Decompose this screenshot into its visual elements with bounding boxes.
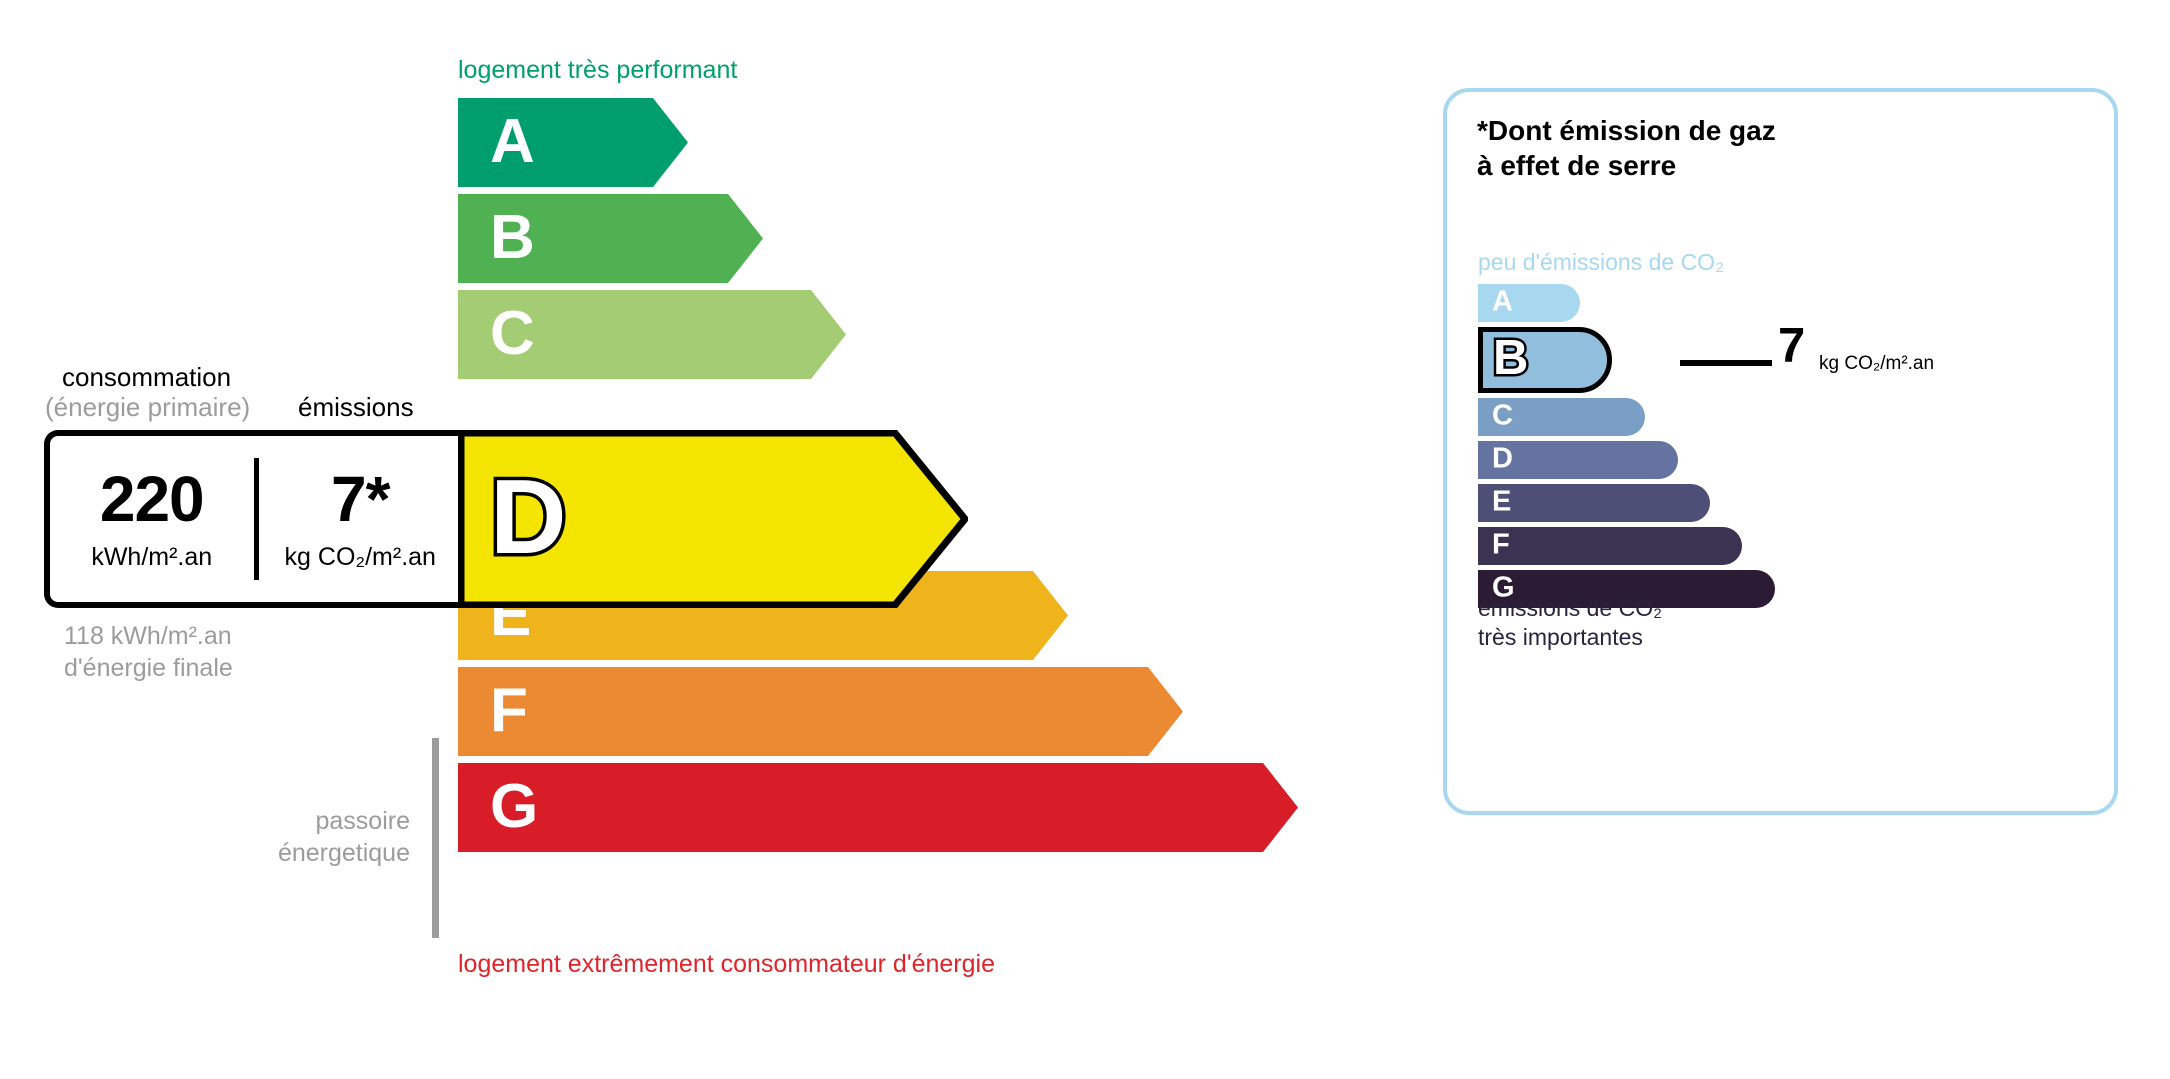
passoire-line1: passoire [140,805,410,837]
energy-bar-f[interactable]: F [458,667,1183,756]
arrow-shape-g [458,763,1298,852]
label-emissions: émissions [298,392,414,423]
co2-bar-row-a[interactable]: A [1478,284,1878,322]
emission-value: 7* [331,467,390,531]
co2-bottom-caption: émissions de CO₂ très importantes [1478,594,1662,653]
label-consommation: consommation [62,362,231,393]
co2-value: 7 [1778,322,1805,371]
energy-grade-letter-b: B [490,206,535,268]
energy-grade-letter-g: G [490,775,538,837]
consumption-value: 220 [100,467,204,531]
energy-bar-row-c[interactable]: C [458,290,1318,379]
co2-title-line2: à effet de serre [1477,149,1776,184]
final-energy-note: 118 kWh/m².an d'énergie finale [64,620,233,684]
co2-bar-row-e[interactable]: E [1478,484,1878,522]
co2-leader-line [1680,360,1772,366]
final-energy-line1: 118 kWh/m².an [64,620,233,652]
energy-bar-row-g[interactable]: G [458,763,1318,852]
emission-unit: kg CO₂/m².an [285,543,436,572]
co2-grade-letter-c: C [1492,402,1513,431]
passoire-marker-line [432,738,439,938]
co2-bar-c[interactable]: C [1478,398,1645,436]
co2-bar-row-f[interactable]: F [1478,527,1878,565]
co2-bottom-line2: très importantes [1478,623,1662,652]
emission-cell: 7* kg CO₂/m².an [259,436,463,602]
energy-grade-letter-f: F [490,679,528,741]
passoire-line2: énergetique [140,837,410,869]
co2-grade-letter-a: A [1492,288,1513,317]
label-energie-primaire: (énergie primaire) [45,392,250,423]
co2-bar-row-b[interactable]: B 7 kg CO₂/m².an [1478,327,1878,393]
co2-grade-letter-b: B [1493,334,1528,383]
co2-title-line1: *Dont émission de gaz [1477,114,1776,149]
co2-value-unit: kg CO₂/m².an [1819,353,1934,375]
co2-bar-d[interactable]: D [1478,441,1678,479]
co2-bar-row-d[interactable]: D [1478,441,1878,479]
energy-performance-panel: logement très performant A B [0,0,1330,1079]
energy-bar-c[interactable]: C [458,290,846,379]
energy-top-caption: logement très performant [458,56,737,85]
co2-grade-bars: A B 7 kg CO₂/m².an C D E [1478,284,1878,613]
energy-bar-g[interactable]: G [458,763,1298,852]
co2-panel-title: *Dont émission de gaz à effet de serre [1477,114,1776,183]
energy-grade-letter-d: D [490,464,567,570]
co2-bar-f[interactable]: F [1478,527,1742,565]
energy-bar-row-a[interactable]: A [458,98,1318,187]
value-box: 220 kWh/m².an 7* kg CO₂/m².an [44,430,462,608]
passoire-label: passoire énergetique [140,805,410,869]
co2-bar-row-c[interactable]: C [1478,398,1878,436]
energy-bar-row-f[interactable]: F [458,667,1318,756]
co2-grade-letter-f: F [1492,531,1510,560]
co2-emissions-panel: *Dont émission de gaz à effet de serre p… [1443,88,2118,815]
co2-bar-a[interactable]: A [1478,284,1580,322]
co2-bar-e[interactable]: E [1478,484,1710,522]
energy-bar-a[interactable]: A [458,98,688,187]
co2-top-caption: peu d'émissions de CO₂ [1478,249,1724,276]
energy-bar-b[interactable]: B [458,194,763,283]
energy-bar-d-highlighted[interactable]: D [458,430,968,608]
energy-bottom-caption: logement extrêmement consommateur d'éner… [458,950,995,979]
energy-grade-letter-c: C [490,302,535,364]
co2-bar-b-highlighted[interactable]: B [1478,327,1612,393]
co2-bottom-line1: émissions de CO₂ [1478,594,1662,623]
consumption-cell: 220 kWh/m².an [50,436,254,602]
co2-grade-letter-e: E [1492,488,1511,517]
consumption-unit: kWh/m².an [91,543,212,572]
final-energy-line2: d'énergie finale [64,652,233,684]
energy-grade-letter-a: A [490,110,535,172]
co2-grade-letter-d: D [1492,445,1513,474]
energy-bar-row-b[interactable]: B [458,194,1318,283]
arrow-shape-f [458,667,1183,756]
